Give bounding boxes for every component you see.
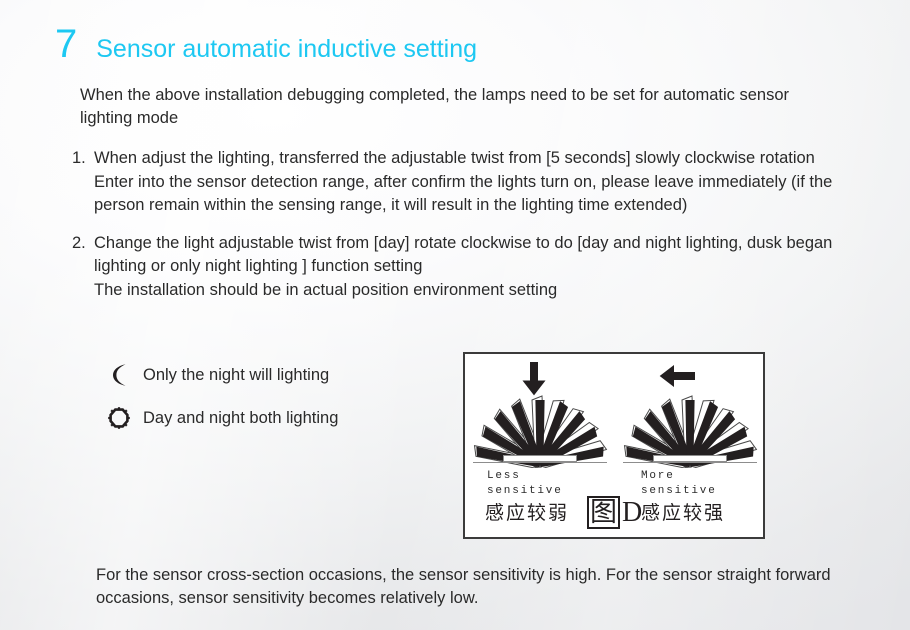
sensor-housing (503, 455, 577, 462)
footer-note: For the sensor cross-section occasions, … (96, 564, 886, 610)
list-item: 2. Change the light adjustable twist fro… (72, 232, 872, 303)
legend-item-night: Only the night will lighting (104, 358, 338, 392)
step-line: Enter into the sensor detection range, a… (94, 171, 872, 218)
caption-line-1: Less (487, 470, 521, 482)
sun-gear-icon (104, 406, 134, 430)
sensor-housing (653, 455, 727, 462)
step-line: Change the light adjustable twist from [… (94, 232, 872, 279)
document-page: 7 Sensor automatic inductive setting Whe… (0, 0, 910, 630)
page-title: Sensor automatic inductive setting (96, 34, 477, 64)
ground-line (473, 462, 607, 463)
crescent-moon-icon (104, 363, 134, 387)
panel-caption-cn: 感应较弱 (485, 502, 569, 524)
sensor-fan-pattern (620, 386, 760, 464)
step-line: The installation should be in actual pos… (94, 279, 872, 303)
step-body: Change the light adjustable twist from [… (94, 232, 872, 303)
caption-line-1: More (641, 470, 675, 482)
caption-line-2: sensitive (641, 485, 717, 497)
panel-caption-en: Less sensitive (487, 469, 563, 498)
figure-label-cn: 图 (587, 496, 620, 529)
caption-line-2: sensitive (487, 485, 563, 497)
figure-label: 图 D (587, 496, 642, 529)
step-body: When adjust the lighting, transferred th… (94, 147, 872, 218)
section-number: 7 (55, 24, 77, 64)
sensor-fan-pattern (470, 386, 610, 464)
page-header: 7 Sensor automatic inductive setting (55, 24, 477, 64)
step-number: 2. (72, 232, 94, 256)
steps-list: 1. When adjust the lighting, transferred… (72, 147, 872, 316)
list-item: 1. When adjust the lighting, transferred… (72, 147, 872, 218)
legend-item-label: Day and night both lighting (143, 408, 338, 428)
intro-paragraph: When the above installation debugging co… (80, 84, 840, 130)
sensitivity-diagram: Less sensitive 感应较弱 (463, 352, 765, 539)
panel-caption-en: More sensitive (641, 469, 717, 498)
legend-item-day-night: Day and night both lighting (104, 401, 338, 435)
figure-label-letter: D (622, 498, 642, 528)
mode-legend: Only the night will lighting (104, 358, 338, 444)
step-line: When adjust the lighting, transferred th… (94, 147, 872, 171)
step-number: 1. (72, 147, 94, 171)
legend-item-label: Only the night will lighting (143, 365, 329, 385)
panel-caption-cn: 感应较强 (641, 502, 725, 524)
ground-line (623, 462, 757, 463)
